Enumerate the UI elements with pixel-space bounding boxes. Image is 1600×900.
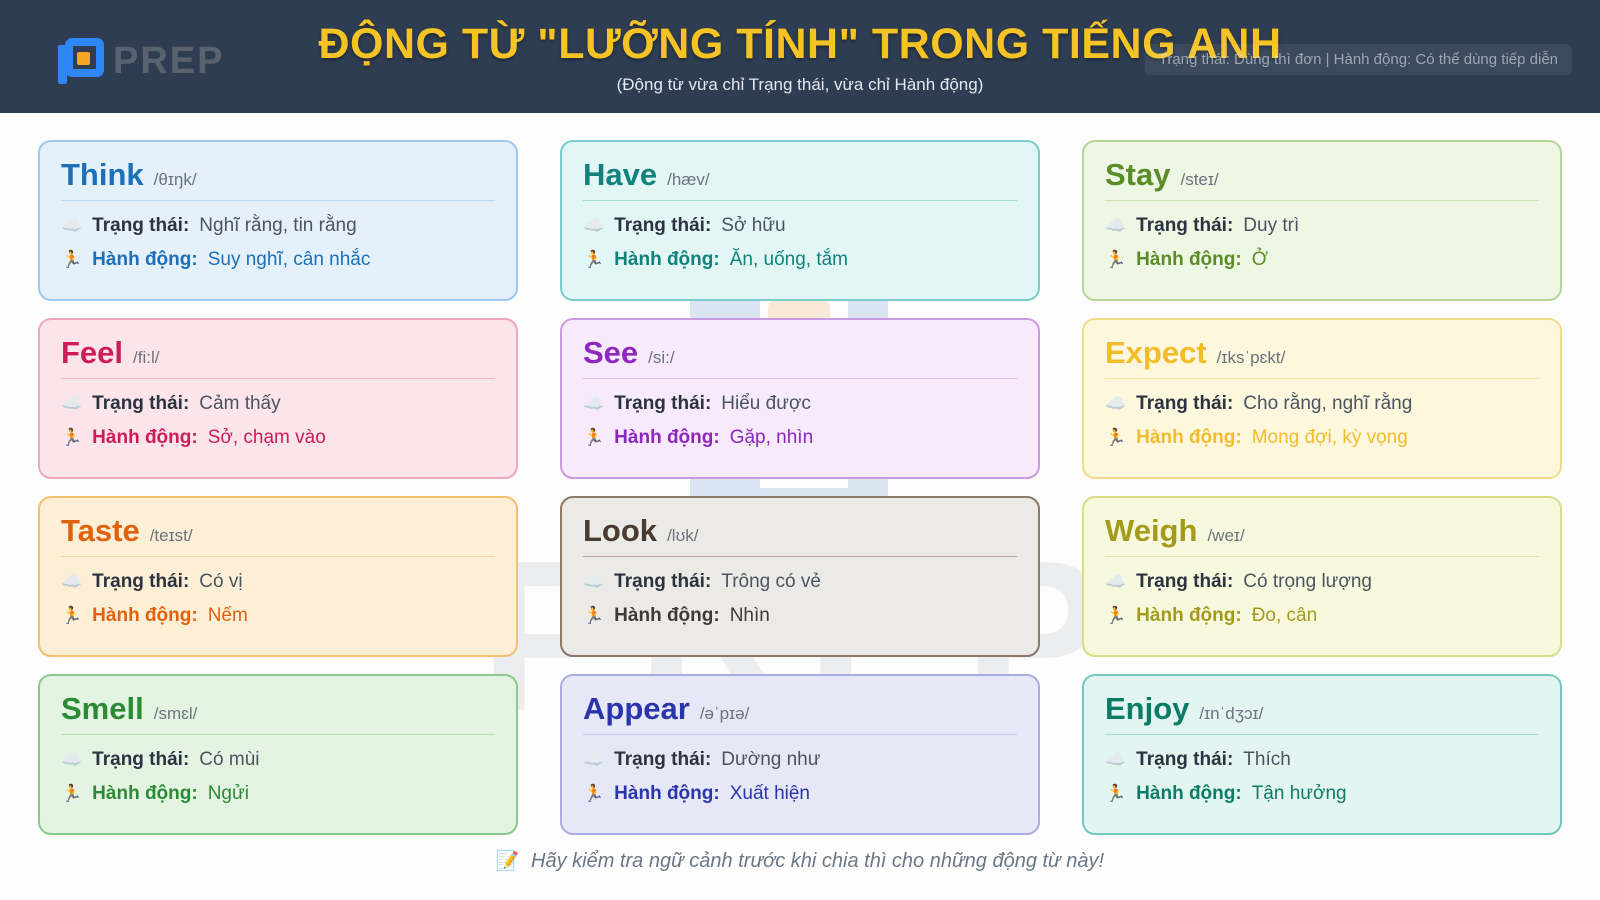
verb-card-head: Have/hæv/ (583, 159, 1017, 200)
action-label: Hành động: (1136, 605, 1242, 627)
runner-icon: 🏃 (61, 429, 82, 446)
verb-ipa: /smɛl/ (154, 704, 198, 724)
card-divider (61, 556, 495, 557)
state-value: Có vị (199, 571, 242, 593)
runner-icon: 🏃 (583, 251, 604, 268)
state-row: ☁️Trạng thái:Có trọng lượng (1105, 571, 1539, 593)
action-row: 🏃Hành động:Suy nghĩ, cân nhắc (61, 249, 495, 271)
verb-word: Expect (1105, 337, 1207, 368)
cloud-icon: ☁️ (61, 395, 82, 412)
action-label: Hành động: (614, 783, 720, 805)
state-row: ☁️Trạng thái:Duy trì (1105, 215, 1539, 237)
memo-icon: 📝 (496, 851, 520, 872)
verb-word: Enjoy (1105, 693, 1189, 724)
verb-word: Have (583, 159, 657, 190)
verb-card-head: Look/lʊk/ (583, 515, 1017, 556)
verb-card: Expect/ɪksˈpɛkt/☁️Trạng thái:Cho rằng, n… (1082, 318, 1562, 479)
usage-hint-badge: Trạng thái: Dùng thì đơn | Hành động: Có… (1145, 44, 1572, 75)
action-label: Hành động: (92, 427, 198, 449)
verb-card-head: Taste/teɪst/ (61, 515, 495, 556)
action-value: Xuất hiện (730, 783, 810, 805)
action-value: Đo, cân (1252, 605, 1317, 627)
action-value: Nếm (208, 605, 248, 627)
state-row: ☁️Trạng thái:Có mùi (61, 749, 495, 771)
page-subtitle: (Động từ vừa chỉ Trạng thái, vừa chỉ Hàn… (0, 75, 1600, 95)
verb-card: Look/lʊk/☁️Trạng thái:Trông có vẻ🏃Hành đ… (560, 496, 1040, 657)
card-divider (583, 556, 1017, 557)
state-row: ☁️Trạng thái:Có vị (61, 571, 495, 593)
footer-note: 📝 Hãy kiểm tra ngữ cảnh trước khi chia t… (0, 849, 1600, 873)
action-row: 🏃Hành động:Gặp, nhìn (583, 427, 1017, 449)
state-value: Có trọng lượng (1243, 571, 1372, 593)
cloud-icon: ☁️ (61, 573, 82, 590)
verb-card: Taste/teɪst/☁️Trạng thái:Có vị🏃Hành động… (38, 496, 518, 657)
state-label: Trạng thái: (1136, 393, 1233, 415)
action-row: 🏃Hành động:Ăn, uống, tắm (583, 249, 1017, 271)
verb-ipa: /fi:l/ (133, 348, 159, 368)
verb-card: Enjoy/ɪnˈdʒɔɪ/☁️Trạng thái:Thích🏃Hành độ… (1082, 674, 1562, 835)
state-row: ☁️Trạng thái:Thích (1105, 749, 1539, 771)
state-value: Cho rằng, nghĩ rằng (1243, 393, 1412, 415)
cloud-icon: ☁️ (61, 751, 82, 768)
state-label: Trạng thái: (614, 215, 711, 237)
verb-ipa: /steɪ/ (1180, 170, 1218, 190)
cloud-icon: ☁️ (1105, 217, 1126, 234)
runner-icon: 🏃 (583, 785, 604, 802)
action-row: 🏃Hành động:Ở (1105, 249, 1539, 271)
action-value: Ngửi (208, 783, 249, 805)
verb-card-head: Think/θɪŋk/ (61, 159, 495, 200)
action-label: Hành động: (1136, 783, 1242, 805)
verb-card-head: Weigh/weɪ/ (1105, 515, 1539, 556)
verb-ipa: /ɪksˈpɛkt/ (1217, 348, 1286, 368)
state-label: Trạng thái: (614, 749, 711, 771)
state-value: Cảm thấy (199, 393, 280, 415)
verb-ipa: /ɪnˈdʒɔɪ/ (1199, 704, 1263, 724)
runner-icon: 🏃 (583, 429, 604, 446)
verb-card-head: Smell/smɛl/ (61, 693, 495, 734)
action-label: Hành động: (614, 427, 720, 449)
state-value: Thích (1243, 749, 1291, 771)
runner-icon: 🏃 (1105, 607, 1126, 624)
state-label: Trạng thái: (1136, 215, 1233, 237)
action-label: Hành động: (614, 605, 720, 627)
verb-card: Smell/smɛl/☁️Trạng thái:Có mùi🏃Hành động… (38, 674, 518, 835)
action-value: Ở (1252, 249, 1268, 271)
runner-icon: 🏃 (61, 251, 82, 268)
verb-ipa: /weɪ/ (1207, 526, 1244, 546)
verb-card: Appear/əˈpɪə/☁️Trạng thái:Dường như🏃Hành… (560, 674, 1040, 835)
action-label: Hành động: (614, 249, 720, 271)
action-row: 🏃Hành động:Sở, chạm vào (61, 427, 495, 449)
action-value: Sở, chạm vào (208, 427, 326, 449)
brand-logo: PREP (58, 38, 224, 84)
action-label: Hành động: (1136, 427, 1242, 449)
card-divider (61, 378, 495, 379)
card-divider (1105, 556, 1539, 557)
action-row: 🏃Hành động:Ngửi (61, 783, 495, 805)
verb-ipa: /teɪst/ (150, 526, 193, 546)
verb-card-head: Enjoy/ɪnˈdʒɔɪ/ (1105, 693, 1539, 734)
action-row: 🏃Hành động:Nhìn (583, 605, 1017, 627)
state-label: Trạng thái: (92, 749, 189, 771)
card-divider (61, 734, 495, 735)
runner-icon: 🏃 (61, 785, 82, 802)
state-label: Trạng thái: (92, 571, 189, 593)
action-label: Hành động: (92, 783, 198, 805)
state-value: Hiểu được (721, 393, 811, 415)
verb-card-head: Feel/fi:l/ (61, 337, 495, 378)
runner-icon: 🏃 (1105, 785, 1126, 802)
cloud-icon: ☁️ (1105, 395, 1126, 412)
cloud-icon: ☁️ (61, 217, 82, 234)
state-label: Trạng thái: (1136, 749, 1233, 771)
action-value: Gặp, nhìn (730, 427, 813, 449)
state-value: Có mùi (199, 749, 259, 771)
state-row: ☁️Trạng thái:Hiểu được (583, 393, 1017, 415)
state-label: Trạng thái: (92, 393, 189, 415)
verb-card: See/si:/☁️Trạng thái:Hiểu được🏃Hành động… (560, 318, 1040, 479)
prep-logo-mark-icon (58, 38, 104, 84)
verb-card: Feel/fi:l/☁️Trạng thái:Cảm thấy🏃Hành độn… (38, 318, 518, 479)
action-value: Tận hưởng (1252, 783, 1347, 805)
state-value: Nghĩ rằng, tin rằng (199, 215, 356, 237)
cloud-icon: ☁️ (583, 217, 604, 234)
state-row: ☁️Trạng thái:Nghĩ rằng, tin rằng (61, 215, 495, 237)
state-label: Trạng thái: (614, 393, 711, 415)
verb-ipa: /si:/ (648, 348, 674, 368)
runner-icon: 🏃 (1105, 429, 1126, 446)
card-divider (1105, 734, 1539, 735)
card-divider (61, 200, 495, 201)
action-row: 🏃Hành động:Mong đợi, kỳ vọng (1105, 427, 1539, 449)
state-row: ☁️Trạng thái:Dường như (583, 749, 1017, 771)
action-value: Ăn, uống, tắm (730, 249, 848, 271)
verb-word: Feel (61, 337, 123, 368)
state-value: Duy trì (1243, 215, 1299, 237)
infographic-page: PREP ĐỘNG TỪ "LƯỠNG TÍNH" TRONG TIẾNG AN… (0, 0, 1600, 900)
runner-icon: 🏃 (583, 607, 604, 624)
card-divider (583, 200, 1017, 201)
verb-word: Smell (61, 693, 144, 724)
cloud-icon: ☁️ (583, 395, 604, 412)
verb-card: Think/θɪŋk/☁️Trạng thái:Nghĩ rằng, tin r… (38, 140, 518, 301)
action-value: Mong đợi, kỳ vọng (1252, 427, 1408, 449)
verb-card: Have/hæv/☁️Trạng thái:Sở hữu🏃Hành động:Ă… (560, 140, 1040, 301)
verb-ipa: /əˈpɪə/ (700, 704, 750, 724)
cloud-icon: ☁️ (1105, 573, 1126, 590)
action-label: Hành động: (92, 605, 198, 627)
state-label: Trạng thái: (92, 215, 189, 237)
action-row: 🏃Hành động:Đo, cân (1105, 605, 1539, 627)
verb-word: Weigh (1105, 515, 1197, 546)
runner-icon: 🏃 (1105, 251, 1126, 268)
state-value: Sở hữu (721, 215, 785, 237)
card-divider (1105, 200, 1539, 201)
state-row: ☁️Trạng thái:Cho rằng, nghĩ rằng (1105, 393, 1539, 415)
verb-card-head: Stay/steɪ/ (1105, 159, 1539, 200)
verb-ipa: /lʊk/ (667, 526, 698, 546)
verb-word: Think (61, 159, 144, 190)
verb-ipa: /θɪŋk/ (154, 170, 197, 190)
cloud-icon: ☁️ (583, 751, 604, 768)
verb-card-head: Expect/ɪksˈpɛkt/ (1105, 337, 1539, 378)
cloud-icon: ☁️ (583, 573, 604, 590)
state-row: ☁️Trạng thái:Cảm thấy (61, 393, 495, 415)
verb-word: See (583, 337, 638, 368)
verb-word: Stay (1105, 159, 1170, 190)
state-value: Dường như (721, 749, 820, 771)
card-divider (583, 378, 1017, 379)
cloud-icon: ☁️ (1105, 751, 1126, 768)
state-row: ☁️Trạng thái:Sở hữu (583, 215, 1017, 237)
verb-card-grid: Think/θɪŋk/☁️Trạng thái:Nghĩ rằng, tin r… (0, 113, 1600, 835)
brand-logo-text: PREP (113, 40, 224, 83)
action-row: 🏃Hành động:Tận hưởng (1105, 783, 1539, 805)
state-label: Trạng thái: (614, 571, 711, 593)
card-divider (583, 734, 1017, 735)
card-divider (1105, 378, 1539, 379)
verb-word: Look (583, 515, 657, 546)
action-label: Hành động: (92, 249, 198, 271)
action-label: Hành động: (1136, 249, 1242, 271)
header-bar: PREP ĐỘNG TỪ "LƯỠNG TÍNH" TRONG TIẾNG AN… (0, 0, 1600, 113)
verb-word: Taste (61, 515, 140, 546)
verb-card-head: Appear/əˈpɪə/ (583, 693, 1017, 734)
footer-note-text: Hãy kiểm tra ngữ cảnh trước khi chia thì… (531, 850, 1104, 872)
verb-ipa: /hæv/ (667, 170, 710, 190)
state-label: Trạng thái: (1136, 571, 1233, 593)
runner-icon: 🏃 (61, 607, 82, 624)
state-value: Trông có vẻ (721, 571, 821, 593)
verb-card-head: See/si:/ (583, 337, 1017, 378)
state-row: ☁️Trạng thái:Trông có vẻ (583, 571, 1017, 593)
verb-card: Stay/steɪ/☁️Trạng thái:Duy trì🏃Hành động… (1082, 140, 1562, 301)
verb-card: Weigh/weɪ/☁️Trạng thái:Có trọng lượng🏃Hà… (1082, 496, 1562, 657)
action-value: Nhìn (730, 605, 770, 627)
action-value: Suy nghĩ, cân nhắc (208, 249, 371, 271)
action-row: 🏃Hành động:Xuất hiện (583, 783, 1017, 805)
action-row: 🏃Hành động:Nếm (61, 605, 495, 627)
verb-word: Appear (583, 693, 690, 724)
